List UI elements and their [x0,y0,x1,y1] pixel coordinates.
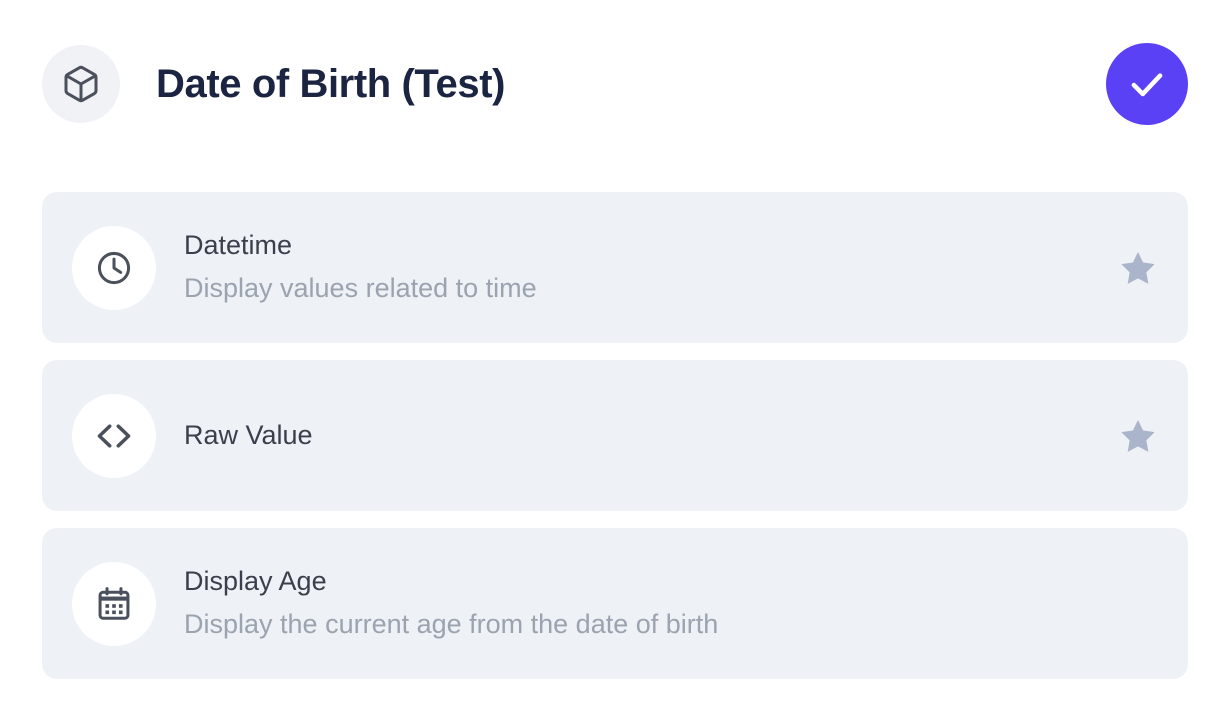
list-item-subtitle: Display values related to time [184,273,537,305]
star-icon[interactable] [1116,414,1160,458]
list-item-title: Datetime [184,230,537,262]
star-icon-glyph [1118,416,1158,456]
list-item-text: Datetime Display values related to time [184,230,537,305]
calendar-icon-glyph [95,585,133,623]
list-item-subtitle: Display the current age from the date of… [184,609,718,641]
list-item-title: Display Age [184,566,718,598]
list-item-text: Display Age Display the current age from… [184,566,718,641]
list-item[interactable]: Datetime Display values related to time [42,192,1188,343]
code-brackets-icon [72,394,156,478]
star-icon[interactable] [1116,246,1160,290]
confirm-button[interactable] [1106,43,1188,125]
page-header: Date of Birth (Test) [42,38,1188,130]
option-list: Datetime Display values related to time … [42,192,1188,679]
check-icon [1126,63,1168,105]
cube-icon-glyph [61,64,101,104]
page-title: Date of Birth (Test) [156,64,505,104]
list-item[interactable]: Raw Value [42,360,1188,511]
star-icon-glyph [1118,248,1158,288]
clock-icon [72,226,156,310]
clock-icon-glyph [95,249,133,287]
list-item-text: Raw Value [184,420,313,452]
calendar-icon [72,562,156,646]
code-brackets-icon-glyph [95,417,133,455]
page-root: Date of Birth (Test) Datetime Display va… [0,0,1216,704]
cube-icon [42,45,120,123]
list-item[interactable]: Display Age Display the current age from… [42,528,1188,679]
list-item-title: Raw Value [184,420,313,452]
